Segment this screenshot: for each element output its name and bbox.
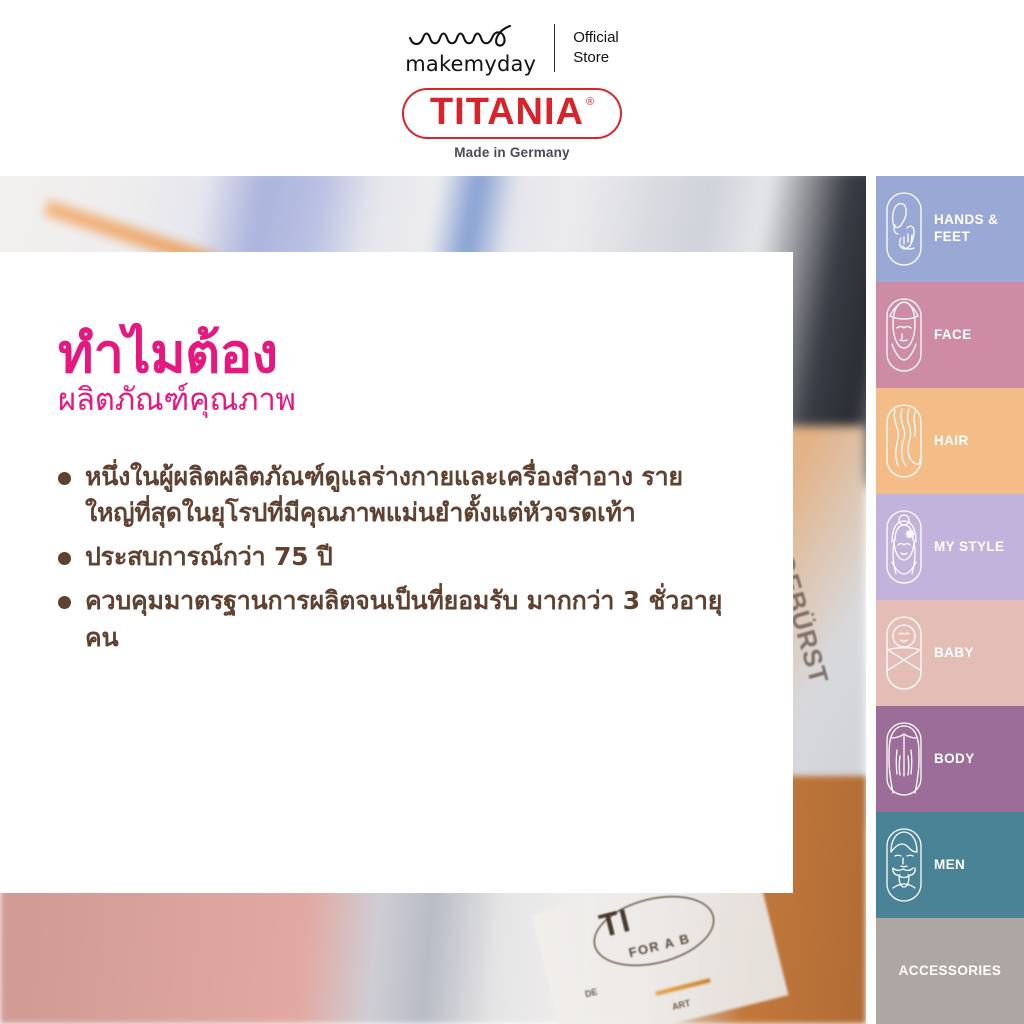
bullet-dot-icon [58,596,71,609]
header: makemyday Official Store TITANIA ® Made … [0,0,1024,176]
my-style-icon [882,506,926,588]
sidebar-item-body[interactable]: BODY [876,706,1024,812]
sidebar-item-label: BABY [934,645,974,662]
sidebar-item-label: ACCESSORIES [899,963,1002,980]
sidebar-item-my-style[interactable]: MY STYLE [876,494,1024,600]
list-item-text: ควบคุมมาตรฐานการผลิตจนเป็นที่ยอมรับ มากก… [85,583,725,656]
sidebar-item-accessories[interactable]: ACCESSORIES [876,918,1024,1024]
face-icon [882,294,926,376]
mmd-script-icon [406,22,536,52]
sidebar-item-label: FACE [934,327,972,344]
list-item-text: หนึ่งในผู้ผลิตผลิตภัณฑ์ดูแลร่างกายและเคร… [85,459,725,532]
titania-wordmark: TITANIA [430,93,584,132]
content-card-inner: ทำไมต้อง ผลิตภัณฑ์คุณภาพ หนึ่งในผู้ผลิตผ… [0,252,793,656]
makemyday-logo: makemyday [405,22,536,75]
page-title: ทำไมต้อง [58,327,793,381]
sidebar-item-face[interactable]: FACE [876,282,1024,388]
makemyday-wordmark: makemyday [405,54,536,75]
sidebar-item-men[interactable]: MEN [876,812,1024,918]
hands-feet-icon [882,188,926,270]
brand-divider [554,24,555,72]
content-card: ทำไมต้อง ผลิตภัณฑ์คุณภาพ หนึ่งในผู้ผลิตผ… [0,252,793,893]
list-item: ควบคุมมาตรฐานการผลิตจนเป็นที่ยอมรับ มากก… [58,583,793,656]
bullet-dot-icon [58,552,71,565]
body-icon [882,718,926,800]
titania-oval-frame: TITANIA ® [402,88,622,139]
list-item: หนึ่งในผู้ผลิตผลิตภัณฑ์ดูแลร่างกายและเคร… [58,459,793,532]
registered-trademark-icon: ® [586,96,594,108]
sidebar-item-label: HANDS & FEET [934,212,1024,246]
men-icon [882,824,926,906]
list-item-text: ประสบการณ์กว่า 75 ปี [85,539,333,575]
promo-graphic: makemyday Official Store TITANIA ® Made … [0,0,1024,1024]
titania-logo: TITANIA ® Made in Germany [402,88,622,160]
category-sidebar: HANDS & FEET FACE [876,176,1024,1024]
list-item: ประสบการณ์กว่า 75 ปี [58,539,793,575]
sidebar-item-label: MY STYLE [934,539,1004,556]
sidebar-item-baby[interactable]: BABY [876,600,1024,706]
baby-icon [882,612,926,694]
sidebar-item-label: HAIR [934,433,969,450]
sidebar-item-label: MEN [934,857,965,874]
official-store-label: Official Store [573,28,619,69]
official-line-2: Store [573,48,619,68]
page-subtitle: ผลิตภัณฑ์คุณภาพ [58,383,793,419]
official-line-1: Official [573,28,619,48]
sidebar-item-label: BODY [934,751,975,768]
brand-row: makemyday Official Store [405,18,619,78]
benefits-list: หนึ่งในผู้ผลิตผลิตภัณฑ์ดูแลร่างกายและเคร… [58,459,793,656]
bullet-dot-icon [58,472,71,485]
hair-icon [882,400,926,482]
sidebar-item-hair[interactable]: HAIR [876,388,1024,494]
made-in-germany-label: Made in Germany [454,145,570,160]
sidebar-item-hands-feet[interactable]: HANDS & FEET [876,176,1024,282]
